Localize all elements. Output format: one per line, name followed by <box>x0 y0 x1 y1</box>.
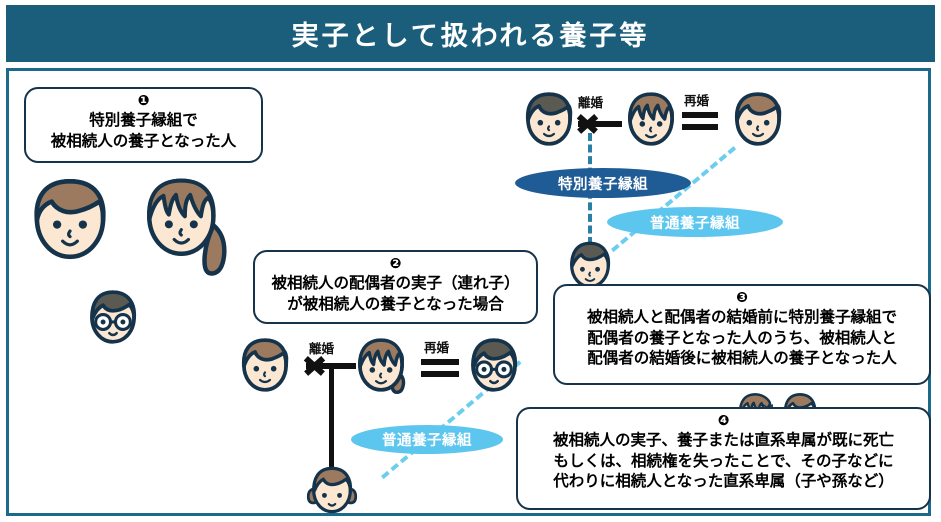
girl-avatar <box>305 463 359 517</box>
callout-box-2: ❷ 被相続人の配偶者の実子（連れ子） が被相続人の養子となった場合 <box>253 250 538 324</box>
special-adoption-tag-top: 特別養子縁組 <box>515 168 691 198</box>
remarriage-label-top: 再婚 <box>684 90 709 109</box>
father-avatar-bottom <box>234 334 296 396</box>
callout-line: 被相続人の実子、養子または直系卑属が既に死亡 <box>526 430 921 450</box>
mother-avatar <box>620 88 682 150</box>
callout-line: 被相続人と配偶者の結婚前に特別養子縁組で <box>563 307 921 327</box>
callout-marker-1: ❶ <box>34 93 253 109</box>
callout-marker-4: ❹ <box>526 413 921 429</box>
page-header-banner: 実子として扱われる養子等 <box>6 5 935 62</box>
callout-line: 被相続人の養子となった人 <box>34 131 253 151</box>
stepfather-glasses-avatar <box>463 334 525 396</box>
divorce-label-top: 離婚 <box>578 92 603 111</box>
callout-line: 被相続人の配偶者の実子（連れ子） <box>263 273 528 293</box>
father-avatar <box>518 88 580 150</box>
callout-marker-3: ❸ <box>563 290 921 306</box>
ordinary-adoption-tag-bottom: 普通養子縁組 <box>351 425 503 454</box>
callout-box-4: ❹ 被相続人の実子、養子または直系卑属が既に死亡 もしくは、相続権を失ったことで… <box>516 407 931 510</box>
ordinary-adoption-tag-top: 普通養子縁組 <box>607 207 783 237</box>
child-glasses-avatar <box>82 286 144 348</box>
callout-line: 配偶者の結婚後に被相続人の養子となった人 <box>563 348 921 368</box>
remarriage-label-bottom: 再婚 <box>424 337 449 356</box>
stepfather-avatar <box>727 88 789 150</box>
callout-line: 配偶者の養子となった人のうち、被相続人と <box>563 328 921 348</box>
callout-line: 代わりに相続人となった直系卑属（子や孫など） <box>526 471 921 491</box>
divorce-x-icon-bottom <box>303 355 325 377</box>
callout-marker-2: ❷ <box>263 256 528 272</box>
marriage-equals-icon-top <box>682 112 718 130</box>
infographic-canvas: 実子として扱われる養子等 <box>0 0 941 522</box>
parent-child-line-bottom <box>329 363 334 473</box>
mother-avatar-bottom <box>350 334 412 396</box>
woman-avatar <box>135 172 233 282</box>
callout-line: が被相続人の養子となった場合 <box>263 294 528 314</box>
man-avatar <box>24 174 116 266</box>
marriage-equals-icon-bottom <box>421 359 459 377</box>
callout-box-3: ❸ 被相続人と配偶者の結婚前に特別養子縁組で 配偶者の養子となった人のうち、被相… <box>553 284 931 385</box>
callout-box-1: ❶ 特別養子縁組で 被相続人の養子となった人 <box>24 87 263 163</box>
page-title: 実子として扱われる養子等 <box>292 14 650 53</box>
callout-line: 特別養子縁組で <box>34 110 253 130</box>
callout-line: もしくは、相続権を失ったことで、その子などに <box>526 451 921 471</box>
